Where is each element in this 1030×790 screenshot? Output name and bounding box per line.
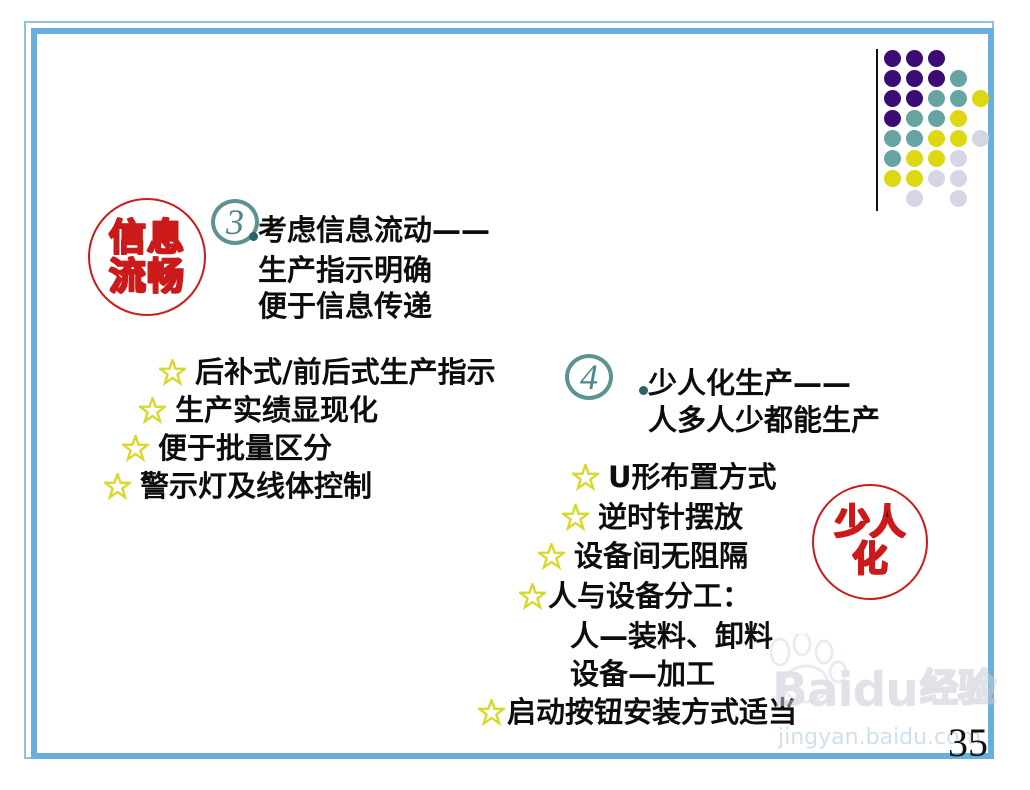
star-icon: [538, 543, 565, 570]
dot: [928, 150, 945, 167]
dot: [928, 90, 945, 107]
bullet-label: 后补式/前后式生产指示: [195, 354, 496, 390]
dot: [950, 130, 967, 147]
star-icon: [159, 359, 186, 386]
star-icon: [122, 435, 149, 462]
seal-line: 化: [852, 543, 887, 578]
bullet-label: 逆时针摆放: [598, 499, 743, 535]
dot: [972, 130, 989, 147]
section3-bullet-3: 便于批量区分: [122, 430, 332, 466]
watermark-brand-cjk: 经验: [920, 657, 996, 712]
dot: [906, 50, 923, 67]
bullet-label: 设备间无阻隔: [574, 538, 748, 574]
section3-bullet-2: 生产实绩显现化: [139, 392, 378, 428]
dot: [906, 110, 923, 127]
bullet-label: U形布置方式: [608, 459, 777, 495]
dot: [928, 70, 945, 87]
seal-stamp-info-flow: 信息 流畅: [88, 198, 206, 316]
vertical-rule: [876, 49, 878, 211]
dot: [950, 170, 967, 187]
star-icon: [478, 699, 505, 726]
star-icon: [562, 504, 589, 531]
dot: [884, 50, 901, 67]
dot: [928, 170, 945, 187]
dot: [950, 110, 967, 127]
star-icon: [519, 583, 546, 610]
dot: [906, 190, 923, 207]
dot: [928, 50, 945, 67]
dot: [906, 130, 923, 147]
seal-stamp-few-people: 少人 化: [812, 484, 928, 600]
dot: [906, 150, 923, 167]
section3-bullet-4: 警示灯及线体控制: [104, 468, 372, 504]
seal-line: 信息: [109, 219, 185, 256]
dot: [906, 70, 923, 87]
section4-item-3: 设备间无阻隔: [538, 538, 748, 574]
section4-item-6: 设备—加工: [570, 656, 715, 692]
section4-heading-line-1: 少人化生产——: [648, 363, 851, 403]
dot: [928, 130, 945, 147]
dot: [906, 90, 923, 107]
dot: [928, 110, 945, 127]
dot: [884, 130, 901, 147]
seal-line: 少人: [835, 506, 905, 541]
dot: [884, 150, 901, 167]
bullet-label: 启动按钮安装方式适当: [507, 694, 797, 730]
section4-item-7: 启动按钮安装方式适当: [478, 694, 797, 730]
section4-item-1: U形布置方式: [572, 459, 777, 495]
dot: [950, 150, 967, 167]
dot: [884, 170, 901, 187]
section4-item-2: 逆时针摆放: [562, 499, 743, 535]
slide-canvas: 信息 流畅 3 考虑信息流动—— 生产指示明确 便于信息传递 后补式/前后式生产…: [0, 0, 1030, 790]
dot: [884, 110, 901, 127]
dot: [906, 170, 923, 187]
dot: [950, 70, 967, 87]
bullet-label: 便于批量区分: [158, 430, 332, 466]
section3-heading-line-1: 考虑信息流动——: [258, 210, 490, 250]
section4-item-5: 人—装料、卸料: [570, 618, 773, 654]
bullet-label: 警示灯及线体控制: [140, 468, 372, 504]
dot: [950, 90, 967, 107]
decorative-dot-grid: [884, 50, 996, 198]
star-icon: [139, 397, 166, 424]
circle-number-dot-4: [639, 386, 648, 395]
seal-line: 流畅: [109, 258, 185, 295]
bullet-label: 人与设备分工：: [548, 578, 751, 614]
dot: [884, 70, 901, 87]
star-icon: [572, 464, 599, 491]
dot: [972, 90, 989, 107]
section3-bullet-1: 后补式/前后式生产指示: [159, 354, 496, 390]
section3-heading-line-3: 便于信息传递: [258, 286, 432, 326]
section3-heading-line-2: 生产指示明确: [258, 250, 432, 290]
star-icon: [104, 473, 131, 500]
page-number: 35: [948, 719, 988, 766]
circle-number-dot-3: [249, 232, 258, 241]
section4-heading-line-2: 人多人少都能生产: [648, 400, 880, 440]
circled-number-4: 4: [565, 354, 613, 400]
dot: [884, 90, 901, 107]
section4-item-4: 人与设备分工：: [519, 578, 751, 614]
bullet-label: 生产实绩显现化: [175, 392, 378, 428]
dot: [950, 190, 967, 207]
